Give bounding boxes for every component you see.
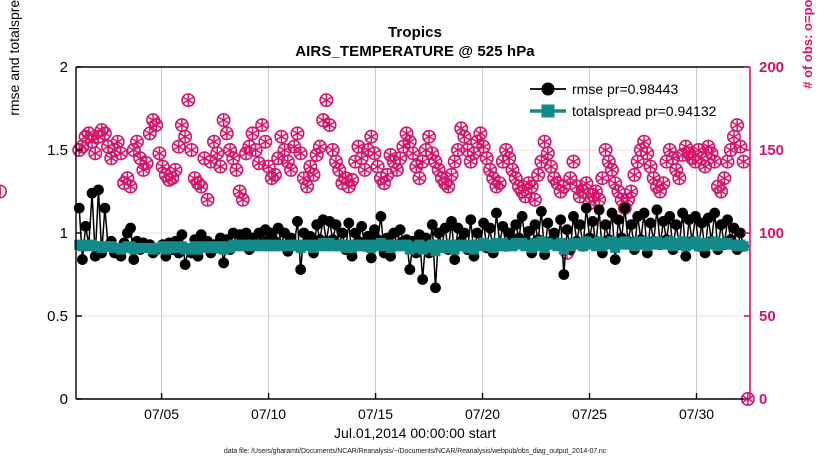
rmse-marker [472,228,483,239]
rmse-marker [587,216,598,227]
x-tick-label: 07/20 [465,406,500,422]
rmse-marker [218,257,229,268]
rmse-marker [430,282,441,293]
y-tick-label-right: 200 [759,59,784,76]
y-axis-label-right: # of obs: o=possible; *=assimilated [800,0,815,100]
rmse-marker [376,211,387,222]
data-file-caption: data file: /Users/gharamti/Documents/NCA… [0,448,830,455]
rmse-marker [417,274,428,285]
rmse-marker [449,254,460,265]
rmse-marker [581,203,592,214]
rmse-marker [652,204,663,215]
rmse-marker [343,218,354,229]
rmse-marker [459,228,470,239]
y-tick-label-right: 50 [759,308,776,325]
rmse-marker [366,253,377,264]
rmse-marker [530,219,541,230]
rmse-marker [680,251,691,262]
rmse-marker [645,218,656,229]
rmse-marker [562,224,573,235]
y-tick-label-left: 1 [60,225,68,242]
rmse-marker [600,219,611,230]
rmse-marker [671,219,682,230]
rmse-marker [128,254,139,265]
y-tick-label-right: 0 [759,391,767,408]
rmse-marker [180,259,191,270]
rmse-marker [639,208,650,219]
y-tick-label-left: 0.5 [47,308,68,325]
rmse-marker [177,229,188,240]
rmse-marker [369,224,380,235]
legend-label: totalspread pr=0.94132 [572,103,717,119]
rmse-marker [295,264,306,275]
y-tick-label-left: 0 [60,391,68,408]
chart-page: Tropics AIRS_TEMPERATURE @ 525 hPa 00.51… [0,0,830,470]
obs-possible-marker [0,185,6,197]
rmse-marker [404,264,415,275]
rmse-marker [337,228,348,239]
legend-label: rmse pr=0.98443 [572,81,678,97]
y-tick-label-left: 1.5 [47,142,68,159]
y-axis-label-left: rmse and totalspread [6,0,22,150]
rmse-marker [517,211,528,222]
chart-legend: rmse pr=0.98443totalspread pr=0.94132 [530,81,717,119]
rmse-marker [619,203,630,214]
rmse-marker [80,221,91,232]
rmse-marker [491,208,502,219]
x-axis-label: Jul.01,2014 00:00:00 start [0,425,830,441]
legend-marker-circle [542,83,555,96]
chart-canvas: 00.511.5205010015020007/0507/1007/1507/2… [0,0,830,470]
rmse-marker [292,216,303,227]
y-tick-label-right: 100 [759,225,784,242]
x-tick-label: 07/25 [572,406,607,422]
rmse-marker [610,254,621,265]
totalspread-marker [739,241,749,251]
x-tick-label: 07/10 [251,406,286,422]
rmse-marker [542,218,553,229]
rmse-marker [485,223,496,234]
rmse-marker [709,208,720,219]
rmse-marker [555,214,566,225]
x-tick-label: 07/05 [144,406,179,422]
rmse-marker [594,204,605,215]
rmse-marker [613,214,624,225]
rmse-marker [549,228,560,239]
rmse-marker [558,269,569,280]
rmse-marker [536,206,547,217]
y-tick-label-left: 2 [60,59,68,76]
x-tick-label: 07/30 [679,406,714,422]
x-tick-label: 07/15 [358,406,393,422]
rmse-marker [465,214,476,225]
y-tick-label-right: 150 [759,142,784,159]
rmse-marker [99,203,110,214]
rmse-marker [77,254,88,265]
legend-marker-square [542,105,555,118]
rmse-marker [395,224,406,235]
rmse-marker [125,223,136,234]
rmse-marker [574,219,585,230]
rmse-marker [356,221,367,232]
rmse-marker [93,184,104,195]
